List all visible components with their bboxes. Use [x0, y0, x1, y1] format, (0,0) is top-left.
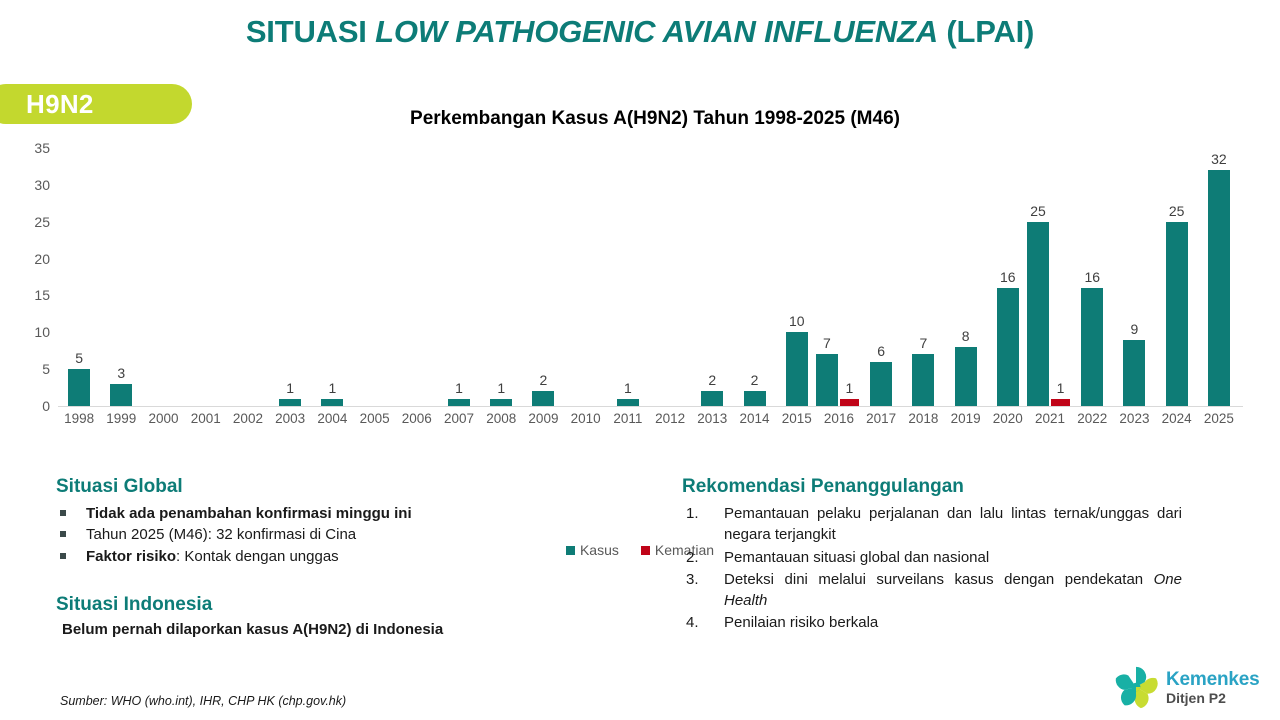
chart-bar-kasus: [490, 399, 512, 406]
chart-bar-kasus: [870, 362, 892, 406]
indonesia-section-text: Belum pernah dilaporkan kasus A(H9N2) di…: [56, 621, 656, 638]
chart-x-tick: 2002: [227, 412, 269, 426]
chart-bar-label-kasus: 9: [1114, 322, 1154, 336]
chart-bar-label-kasus: 2: [735, 373, 775, 387]
logo-unit: Ditjen P2: [1166, 691, 1259, 705]
chart-x-tick: 2022: [1071, 412, 1113, 426]
chart-plot-area: 53111121221071678162511692532: [58, 148, 1240, 406]
chart-y-tick: 10: [16, 325, 50, 339]
chart-x-tick: 2000: [142, 412, 184, 426]
chart-x-tick: 2024: [1156, 412, 1198, 426]
chart-bar-label-kasus: 3: [101, 366, 141, 380]
chart-x-tick: 2006: [396, 412, 438, 426]
chart-bar-kasus: [1081, 288, 1103, 406]
chart-title: Perkembangan Kasus A(H9N2) Tahun 1998-20…: [30, 108, 1280, 130]
recommendation-section-list: Pemantauan pelaku perjalanan dan lalu li…: [682, 503, 1182, 634]
recommendation-list-item: Pemantauan situasi global dan nasional: [682, 547, 1182, 568]
global-list-item: Faktor risiko: Kontak dengan unggas: [56, 546, 656, 567]
chart-x-tick: 1999: [100, 412, 142, 426]
chart-x-tick: 2016: [818, 412, 860, 426]
chart-bar-label-kasus: 7: [903, 336, 943, 350]
chart-bar-kasus: [1027, 222, 1049, 406]
recommendation-section-heading: Rekomendasi Penanggulangan: [682, 476, 1182, 498]
chart-bar-kasus: [1123, 340, 1145, 406]
chart-bar-label-kasus: 8: [946, 329, 986, 343]
page-title-part1: SITUASI: [246, 14, 375, 49]
chart-x-tick: 2025: [1198, 412, 1240, 426]
chart-x-tick: 2023: [1113, 412, 1155, 426]
global-list-item-emphasis: Faktor risiko: [86, 548, 176, 565]
chart-y-tick: 15: [16, 288, 50, 302]
chart-x-tick: 2017: [860, 412, 902, 426]
chart-bar-label-kasus: 16: [988, 270, 1028, 284]
chart-bar-label-kasus: 32: [1199, 152, 1239, 166]
chart-x-tick: 2018: [902, 412, 944, 426]
chart-bar-label-kasus: 25: [1157, 204, 1197, 218]
source-note: Sumber: WHO (who.int), IHR, CHP HK (chp.…: [60, 694, 346, 708]
recommendation-list-item: Deteksi dini melalui surveilans kasus de…: [682, 569, 1182, 612]
chart-bar-label-kasus: 6: [861, 344, 901, 358]
chart-x-tick: 2001: [185, 412, 227, 426]
chart-bar-label-kematian: 1: [831, 381, 868, 395]
logo-wordmark: Kemenkes Ditjen P2: [1166, 670, 1259, 705]
recommendation-list-item: Pemantauan pelaku perjalanan dan lalu li…: [682, 503, 1182, 546]
chart-baseline: [58, 406, 1243, 407]
chart-bar-label-kasus: 5: [59, 351, 99, 365]
kemenkes-flower-icon: [1112, 664, 1160, 710]
chart-bar-kasus: [532, 391, 554, 406]
chart-x-tick: 2020: [987, 412, 1029, 426]
recommendation-italic-term: One Health: [724, 571, 1182, 609]
chart-bar-kematian: [840, 399, 859, 406]
page-title-italic: LOW PATHOGENIC AVIAN INFLUENZA: [375, 14, 938, 49]
chart-x-tick: 1998: [58, 412, 100, 426]
chart-y-tick: 25: [16, 215, 50, 229]
global-section-list: Tidak ada penambahan konfirmasi minggu i…: [56, 503, 656, 567]
chart-x-tick: 2019: [945, 412, 987, 426]
chart-bar-kematian: [1051, 399, 1070, 406]
chart-bar-label-kasus: 10: [777, 314, 817, 328]
chart-bar-kasus: [955, 347, 977, 406]
chart-x-tick: 2015: [776, 412, 818, 426]
chart-x-tick: 2012: [649, 412, 691, 426]
left-text-column: Situasi Global Tidak ada penambahan konf…: [56, 476, 656, 638]
logo-name: Kemenkes: [1166, 670, 1259, 689]
chart-bar-label-kasus: 16: [1072, 270, 1112, 284]
chart-bar-label-kasus: 1: [312, 381, 352, 395]
kemenkes-logo: Kemenkes Ditjen P2: [1112, 662, 1272, 712]
chart-x-tick: 2010: [565, 412, 607, 426]
chart-bar-kasus: [448, 399, 470, 406]
chart-bar-label-kasus: 7: [807, 336, 847, 350]
global-section-heading: Situasi Global: [56, 476, 656, 498]
chart-bar-kasus: [997, 288, 1019, 406]
chart-x-tick: 2008: [480, 412, 522, 426]
chart-x-tick: 2004: [311, 412, 353, 426]
page-title-part2: (LPAI): [938, 14, 1034, 49]
chart-x-tick: 2009: [522, 412, 564, 426]
chart-container: Perkembangan Kasus A(H9N2) Tahun 1998-20…: [0, 108, 1280, 458]
chart-x-tick: 2011: [607, 412, 649, 426]
chart-bar-kasus: [786, 332, 808, 406]
chart-bar-kasus: [744, 391, 766, 406]
chart-bar-kasus: [617, 399, 639, 406]
recommendation-list-item: Penilaian risiko berkala: [682, 612, 1182, 633]
chart-x-tick: 2021: [1029, 412, 1071, 426]
chart-y-tick: 0: [16, 399, 50, 413]
chart-y-tick: 5: [16, 362, 50, 376]
chart-bar-kasus: [701, 391, 723, 406]
chart-x-tick: 2013: [691, 412, 733, 426]
chart-bar-kasus: [1166, 222, 1188, 406]
global-list-item: Tidak ada penambahan konfirmasi minggu i…: [56, 503, 656, 524]
chart-bar-label-kasus: 1: [439, 381, 479, 395]
chart-y-tick: 20: [16, 252, 50, 266]
chart-plot-wrapper: 35302520151050 5311112122107167816251169…: [0, 140, 1280, 440]
chart-bar-label-kematian: 1: [1042, 381, 1079, 395]
chart-bar-kasus: [321, 399, 343, 406]
chart-x-tick: 2007: [438, 412, 480, 426]
chart-bar-label-kasus: 25: [1018, 204, 1058, 218]
chart-bar-label-kasus: 1: [481, 381, 521, 395]
chart-x-tick: 2014: [733, 412, 775, 426]
global-list-item: Tahun 2025 (M46): 32 konfirmasi di Cina: [56, 524, 656, 545]
chart-bar-label-kasus: 2: [692, 373, 732, 387]
chart-x-tick: 2003: [269, 412, 311, 426]
chart-y-tick: 30: [16, 178, 50, 192]
page-title: SITUASI LOW PATHOGENIC AVIAN INFLUENZA (…: [0, 14, 1280, 50]
chart-x-tick: 2005: [354, 412, 396, 426]
chart-bar-kasus: [1208, 170, 1230, 406]
chart-bar-label-kasus: 1: [270, 381, 310, 395]
chart-bar-label-kasus: 2: [523, 373, 563, 387]
indonesia-section-heading: Situasi Indonesia: [56, 594, 656, 616]
chart-bar-label-kasus: 1: [608, 381, 648, 395]
chart-bar-kasus: [279, 399, 301, 406]
chart-bar-kasus: [68, 369, 90, 406]
chart-bar-kasus: [110, 384, 132, 406]
right-text-column: Rekomendasi Penanggulangan Pemantauan pe…: [682, 476, 1182, 635]
chart-bar-kasus: [912, 354, 934, 406]
chart-y-tick: 35: [16, 141, 50, 155]
